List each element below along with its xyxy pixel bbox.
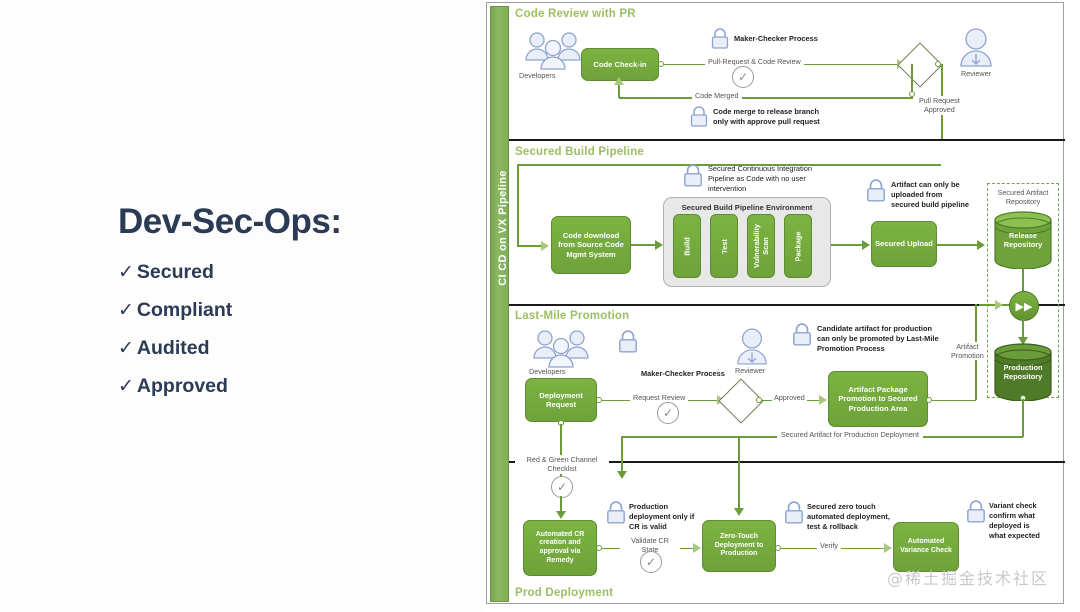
stage-vulnerability-scan[interactable]: Vulnerability Scan [747,214,775,278]
developers-label: Developers [529,367,565,376]
promotion-out-line [932,400,976,402]
reviewer-icon [736,328,768,366]
lock-icon [966,500,986,524]
code-download-box[interactable]: Code download from Source Code Mgmt Syst… [551,216,631,274]
lane-title-last-mile: Last-Mile Promotion [515,310,629,322]
arrow-icon [617,471,627,479]
developers-icon [531,328,593,370]
pull-request-label: Pull-Request & Code Review [705,57,804,66]
zero-touch-incoming-line [738,437,740,511]
zero-touch-deployment-box[interactable]: Zero-Touch Deployment to Production [702,520,776,572]
upload-to-repo-line [937,244,981,246]
devsecops-pipeline-diagram: CI CD on VX Pipeline Code Review with PR… [484,0,1080,612]
request-review-label: Request Review [630,393,688,402]
approved-label: Approved [772,393,807,402]
check-icon: ✓ [551,476,573,498]
zero-touch-note: Secured zero touch automated deployment,… [807,502,890,532]
red-green-checklist-label: Red & Green Channel Checklist [515,455,609,474]
arrow-icon [995,300,1003,310]
arrow-icon [819,395,827,405]
reviewer-label: Reviewer [961,69,991,78]
bullet-label: Secured [137,261,214,283]
swimlane-label: CI CD on VX Pipeline [497,153,509,303]
production-repository-label: Production Repository [995,363,1051,382]
left-text-panel: Dev-Sec-Ops: ✓Secured ✓Compliant ✓Audite… [0,0,484,612]
check-icon: ✓ [118,300,134,321]
bullet-item-audited: ✓Audited [118,337,210,360]
stage-label: Test [720,239,729,254]
code-download-to-env-line [631,244,657,246]
lane-title-secured-build: Secured Build Pipeline [515,146,644,158]
check-icon: ✓ [732,66,754,88]
lock-icon [711,28,729,50]
check-icon: ✓ [118,338,134,359]
stage-label: Vulnerability Scan [752,224,770,268]
lane-title-code-review: Code Review with PR [515,8,636,20]
arrow-icon [556,511,566,519]
bullet-item-secured: ✓Secured [118,261,214,284]
stage-label: Package [794,231,803,261]
lock-icon [618,330,638,354]
arrow-icon [862,240,870,250]
env-to-upload-line [831,244,865,246]
build-entry-line-left [517,164,519,246]
gate-incoming-line [979,304,1009,306]
maker-checker-note: Maker-Checker Process [641,369,725,379]
arrow-icon [655,240,663,250]
repo-to-gate-line [1022,269,1024,293]
stage-package[interactable]: Package [784,214,812,278]
deployment-request-box[interactable]: Deployment Request [525,378,597,422]
developers-icon [523,30,585,72]
bullet-label: Approved [137,375,228,397]
automated-cr-box[interactable]: Automated CR creation and approval via R… [523,520,597,576]
secured-artifact-repository-title: Secured Artifact Repository [991,188,1055,207]
lock-icon [683,164,703,188]
lock-icon [784,501,804,525]
check-icon: ✓ [118,376,134,397]
watermark: @稀土掘金技术社区 [887,565,1049,589]
code-merged-label: Code Merged [692,91,742,100]
variant-check-note: Variant check confirm what deployed is w… [989,501,1040,541]
developers-label: Developers [519,71,555,80]
candidate-artifact-note: Candidate artifact for production can on… [817,324,939,354]
lane-title-prod-deployment: Prod Deployment [515,587,613,599]
arrow-icon [884,543,892,553]
secured-upload-box[interactable]: Secured Upload [871,221,937,267]
stage-label: Build [682,237,691,255]
artifact-promotion-label: Artifact Promotion [951,342,984,360]
check-icon: ✓ [657,402,679,424]
pull-request-approved-label: Pull Request Approved [919,96,960,115]
lock-icon [866,179,886,203]
code-merged-line [619,97,913,99]
lock-icon [792,323,812,347]
check-icon: ✓ [640,551,662,573]
arrow-icon [977,240,985,250]
stage-build[interactable]: Build [673,214,701,278]
arrow-icon [541,241,549,251]
production-deployment-note: Production deployment only if CR is vali… [629,502,694,532]
arrow-icon [693,543,701,553]
lane-divider-1 [509,139,1065,141]
check-icon: ✓ [118,262,134,283]
verify-label: Verify [817,541,841,550]
ci-pipeline-note: Secured Continuous Integration Pipeline … [708,164,812,194]
maker-checker-note: Maker-Checker Process [734,34,818,44]
bullet-item-approved: ✓Approved [118,375,228,398]
swimlane-band: CI CD on VX Pipeline [490,6,509,602]
reviewer-label: Reviewer [735,366,765,375]
environment-title: Secured Build Pipeline Environment [664,203,830,212]
bullet-item-compliant: ✓Compliant [118,299,232,322]
artifact-package-promotion-box[interactable]: Artifact Package Promotion to Secured Pr… [828,371,928,427]
secured-artifact-label: Secured Artifact for Production Deployme… [777,430,923,439]
merge-note: Code merge to release branch only with a… [713,107,820,127]
lock-icon [606,501,626,525]
code-merged-return-line [618,85,620,98]
build-entry-line-in [517,245,543,247]
diagram-frame: CI CD on VX Pipeline Code Review with PR… [486,2,1064,604]
prodrepo-down-line [1022,399,1024,437]
lock-icon [690,106,708,128]
arrow-icon [734,508,744,516]
artifact-promotion-gate[interactable]: ▶▶ [1009,291,1039,321]
stage-test[interactable]: Test [710,214,738,278]
artifact-upload-note: Artifact can only be uploaded from secur… [891,180,969,210]
page-title: Dev-Sec-Ops: [118,202,342,242]
arrow-icon [614,77,624,85]
release-repository-label: Release Repository [995,231,1051,250]
bullet-label: Compliant [137,299,232,321]
reviewer-icon [959,28,993,68]
bullet-label: Audited [137,337,210,359]
